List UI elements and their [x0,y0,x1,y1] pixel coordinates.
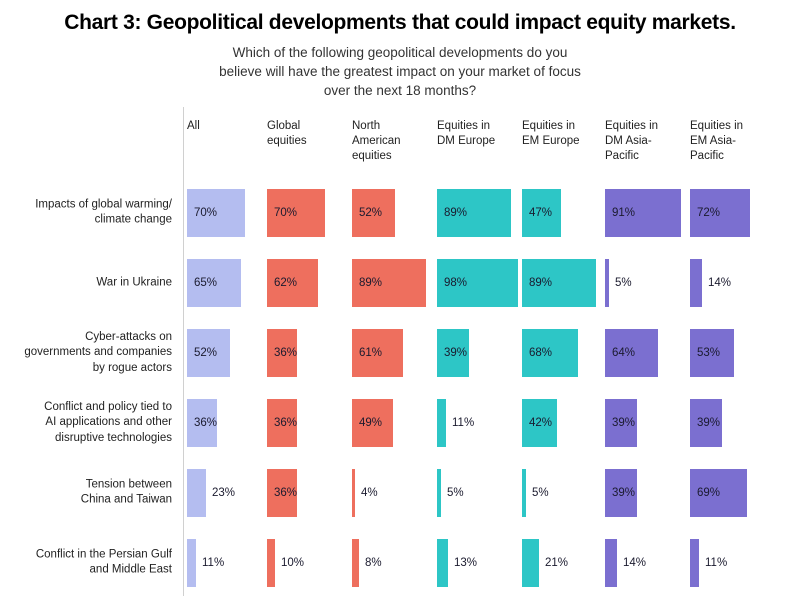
chart-cell: 42% [522,399,605,447]
column-header-3: North American equities [352,119,401,165]
chart-cell: 39% [690,399,773,447]
bar-value-label: 62% [274,277,297,289]
chart-cell: 39% [605,399,688,447]
chart-cell: 89% [352,259,435,307]
bar[interactable] [437,539,448,587]
bar-value-label: 36% [274,347,297,359]
bar-value-label: 23% [212,487,235,499]
bar-value-label: 64% [612,347,635,359]
bar[interactable] [437,399,446,447]
bar-value-label: 91% [612,207,635,219]
chart-cell: 14% [605,539,688,587]
column-header-row: AllGlobal equitiesNorth American equitie… [0,107,800,179]
chart-cell: 14% [690,259,773,307]
bar-value-label: 5% [447,487,464,499]
bar-value-label: 65% [194,277,217,289]
chart-cell: 36% [267,329,350,377]
bar-value-label: 36% [274,487,297,499]
row-label-1: Impacts of global warming/ climate chang… [0,198,172,229]
bar-value-label: 61% [359,347,382,359]
bar[interactable] [267,539,275,587]
chart-cell: 69% [690,469,773,517]
chart-cell: 39% [605,469,688,517]
chart-cell: 11% [690,539,773,587]
chart-cell: 8% [352,539,435,587]
chart-cell: 61% [352,329,435,377]
chart-row: War in Ukraine65%62%89%98%89%5%14% [0,259,800,307]
bar-value-label: 70% [274,207,297,219]
bar-value-label: 36% [274,417,297,429]
bar[interactable] [690,259,702,307]
bar-value-label: 52% [194,347,217,359]
bar-value-label: 89% [359,277,382,289]
column-header-7: Equities in EM Asia- Pacific [690,119,743,165]
bar-value-label: 5% [532,487,549,499]
chart-cell: 39% [437,329,520,377]
bar-value-label: 39% [444,347,467,359]
chart-cell: 91% [605,189,688,237]
chart-plot-area: AllGlobal equitiesNorth American equitie… [0,107,800,604]
chart-cell: 65% [187,259,270,307]
chart-cell: 11% [187,539,270,587]
bar-value-label: 11% [705,557,727,569]
bar[interactable] [437,469,441,517]
chart-row: Cyber-attacks on governments and compani… [0,329,800,377]
bar-value-label: 36% [194,417,217,429]
chart-cell: 21% [522,539,605,587]
bar[interactable] [522,469,526,517]
chart-cell: 36% [267,469,350,517]
column-header-5: Equities in EM Europe [522,119,580,149]
bar[interactable] [352,469,355,517]
row-label-5: Tension between China and Taiwan [0,478,172,509]
chart-cell: 89% [522,259,605,307]
row-label-6: Conflict in the Persian Gulf and Middle … [0,548,172,579]
column-header-2: Global equities [267,119,307,149]
chart-cell: 10% [267,539,350,587]
chart-cell: 36% [187,399,270,447]
chart-subtitle: Which of the following geopolitical deve… [0,43,800,100]
bar-value-label: 39% [612,487,635,499]
bar[interactable] [605,539,617,587]
chart-cell: 5% [522,469,605,517]
chart-cell: 5% [605,259,688,307]
bar-value-label: 21% [545,557,568,569]
bar-value-label: 69% [697,487,720,499]
chart-cell: 72% [690,189,773,237]
chart-cell: 64% [605,329,688,377]
bar-value-label: 89% [529,277,552,289]
bar-value-label: 47% [529,207,552,219]
chart-cell: 98% [437,259,520,307]
chart-cell: 52% [352,189,435,237]
chart-cell: 68% [522,329,605,377]
chart-row: Conflict and policy tied to AI applicati… [0,399,800,447]
chart-cell: 49% [352,399,435,447]
chart-cell: 47% [522,189,605,237]
bar-value-label: 98% [444,277,467,289]
bar-value-label: 14% [708,277,731,289]
bar-value-label: 11% [202,557,224,569]
bar[interactable] [187,539,196,587]
chart-row: Tension between China and Taiwan23%36%4%… [0,469,800,517]
bar-value-label: 70% [194,207,217,219]
chart-cell: 11% [437,399,520,447]
bar-value-label: 8% [365,557,382,569]
bar[interactable] [522,539,539,587]
bar-value-label: 14% [623,557,646,569]
chart-cell: 13% [437,539,520,587]
bar-value-label: 42% [529,417,552,429]
chart-title: Chart 3: Geopolitical developments that … [0,11,800,35]
bar[interactable] [605,259,609,307]
bar-value-label: 49% [359,417,382,429]
bar-value-label: 39% [612,417,635,429]
chart-cell: 70% [267,189,350,237]
bar-value-label: 89% [444,207,467,219]
bar-value-label: 53% [697,347,720,359]
bar-value-label: 11% [452,417,474,429]
column-header-4: Equities in DM Europe [437,119,495,149]
bar-value-label: 5% [615,277,632,289]
chart-cell: 23% [187,469,270,517]
bar-value-label: 68% [529,347,552,359]
chart-cell: 89% [437,189,520,237]
column-header-1: All [187,119,200,134]
bar-value-label: 4% [361,487,378,499]
bar-value-label: 10% [281,557,304,569]
bar-value-label: 13% [454,557,477,569]
bar-value-label: 72% [697,207,720,219]
row-label-3: Cyber-attacks on governments and compani… [0,330,172,376]
bar-value-label: 39% [697,417,720,429]
bar[interactable] [187,469,206,517]
row-label-2: War in Ukraine [0,275,172,290]
chart-row: Impacts of global warming/ climate chang… [0,189,800,237]
row-label-4: Conflict and policy tied to AI applicati… [0,400,172,446]
chart-cell: 70% [187,189,270,237]
chart-cell: 62% [267,259,350,307]
column-header-6: Equities in DM Asia- Pacific [605,119,658,165]
chart-cell: 53% [690,329,773,377]
chart-cell: 5% [437,469,520,517]
chart-cell: 4% [352,469,435,517]
chart-cell: 52% [187,329,270,377]
chart-cell: 36% [267,399,350,447]
bar-value-label: 52% [359,207,382,219]
bar[interactable] [352,539,359,587]
chart-row: Conflict in the Persian Gulf and Middle … [0,539,800,587]
bar[interactable] [690,539,699,587]
